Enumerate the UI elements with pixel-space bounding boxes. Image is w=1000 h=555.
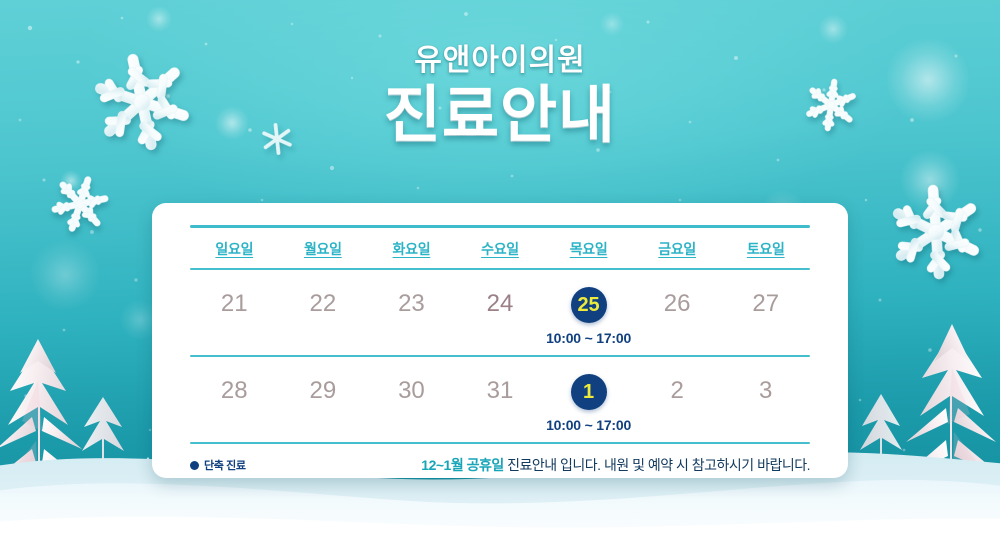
calendar-week-row: 21 22 23 24 25 10:00 ~ 17:00 26 bbox=[190, 270, 810, 355]
calendar-day-cell[interactable]: 30 bbox=[367, 374, 456, 433]
calendar-day-cell[interactable]: 26 bbox=[633, 287, 722, 346]
bokeh-light-icon bbox=[900, 150, 960, 210]
legend-shortened-hours: 단축 진료 bbox=[190, 457, 246, 473]
day-header-wednesday: 수요일 bbox=[456, 239, 545, 259]
day-hours: 10:00 ~ 17:00 bbox=[544, 417, 633, 433]
notice-emphasis: 12~1월 공휴일 bbox=[421, 457, 503, 473]
bokeh-light-icon bbox=[600, 12, 624, 36]
day-header-monday: 월요일 bbox=[279, 239, 368, 259]
day-number: 31 bbox=[456, 374, 545, 408]
calendar-day-cell[interactable]: 28 bbox=[190, 374, 279, 433]
page-title: 진료안내 bbox=[0, 81, 1000, 150]
day-number: 29 bbox=[279, 374, 368, 408]
calendar-day-cell-highlighted[interactable]: 1 10:00 ~ 17:00 bbox=[544, 374, 633, 433]
day-hours: 10:00 ~ 17:00 bbox=[544, 330, 633, 346]
day-number: 22 bbox=[279, 287, 368, 321]
day-number: 23 bbox=[367, 287, 456, 321]
day-header-tuesday: 화요일 bbox=[367, 239, 456, 259]
calendar-day-cell[interactable]: 24 bbox=[456, 287, 545, 346]
calendar-day-cell[interactable]: 3 bbox=[721, 374, 810, 433]
day-number: 3 bbox=[721, 374, 810, 408]
calendar-header-row: 일요일 월요일 화요일 수요일 목요일 금요일 토요일 bbox=[190, 228, 810, 268]
snowflake-icon bbox=[35, 159, 126, 250]
legend-dot-icon bbox=[190, 461, 199, 470]
clinic-name: 유앤아이의원 bbox=[0, 44, 1000, 79]
day-header-thursday: 목요일 bbox=[544, 239, 633, 259]
notice-rest: 진료안내 입니다. 내원 및 예약 시 참고하시기 바랍니다. bbox=[504, 457, 810, 473]
banner-stage: 유앤아이의원 진료안내 일요일 월요일 화요일 수요일 목요일 금요일 토요일 … bbox=[0, 0, 1000, 555]
day-number: 2 bbox=[633, 374, 722, 408]
calendar-day-cell[interactable]: 23 bbox=[367, 287, 456, 346]
notice-text: 12~1월 공휴일 진료안내 입니다. 내원 및 예약 시 참고하시기 바랍니다… bbox=[246, 455, 810, 475]
day-number: 30 bbox=[367, 374, 456, 408]
bokeh-light-icon bbox=[30, 240, 100, 310]
day-number-marked: 25 bbox=[571, 287, 607, 323]
day-number: 28 bbox=[190, 374, 279, 408]
bokeh-light-icon bbox=[60, 170, 82, 192]
day-header-friday: 금요일 bbox=[633, 239, 722, 259]
day-number: 26 bbox=[633, 287, 722, 321]
calendar-day-cell[interactable]: 21 bbox=[190, 287, 279, 346]
legend-label: 단축 진료 bbox=[204, 457, 246, 473]
bokeh-light-icon bbox=[818, 14, 848, 44]
calendar-day-cell[interactable]: 31 bbox=[456, 374, 545, 433]
day-number: 27 bbox=[721, 287, 810, 321]
calendar-day-cell[interactable]: 27 bbox=[721, 287, 810, 346]
day-number-marked: 1 bbox=[571, 374, 607, 410]
card-footer: 단축 진료 12~1월 공휴일 진료안내 입니다. 내원 및 예약 시 참고하시… bbox=[190, 444, 810, 475]
bokeh-light-icon bbox=[146, 6, 172, 32]
calendar-week-row: 28 29 30 31 1 10:00 ~ 17:00 2 bbox=[190, 357, 810, 442]
calendar-day-cell-highlighted[interactable]: 25 10:00 ~ 17:00 bbox=[544, 287, 633, 346]
calendar-day-cell[interactable]: 2 bbox=[633, 374, 722, 433]
banner-heading: 유앤아이의원 진료안내 bbox=[0, 44, 1000, 150]
schedule-card: 일요일 월요일 화요일 수요일 목요일 금요일 토요일 21 22 23 bbox=[152, 203, 848, 478]
day-number: 21 bbox=[190, 287, 279, 321]
day-header-saturday: 토요일 bbox=[721, 239, 810, 259]
day-header-sunday: 일요일 bbox=[190, 239, 279, 259]
calendar-day-cell[interactable]: 29 bbox=[279, 374, 368, 433]
snowflake-icon bbox=[876, 172, 996, 292]
calendar-day-cell[interactable]: 22 bbox=[279, 287, 368, 346]
day-number: 24 bbox=[456, 287, 545, 321]
